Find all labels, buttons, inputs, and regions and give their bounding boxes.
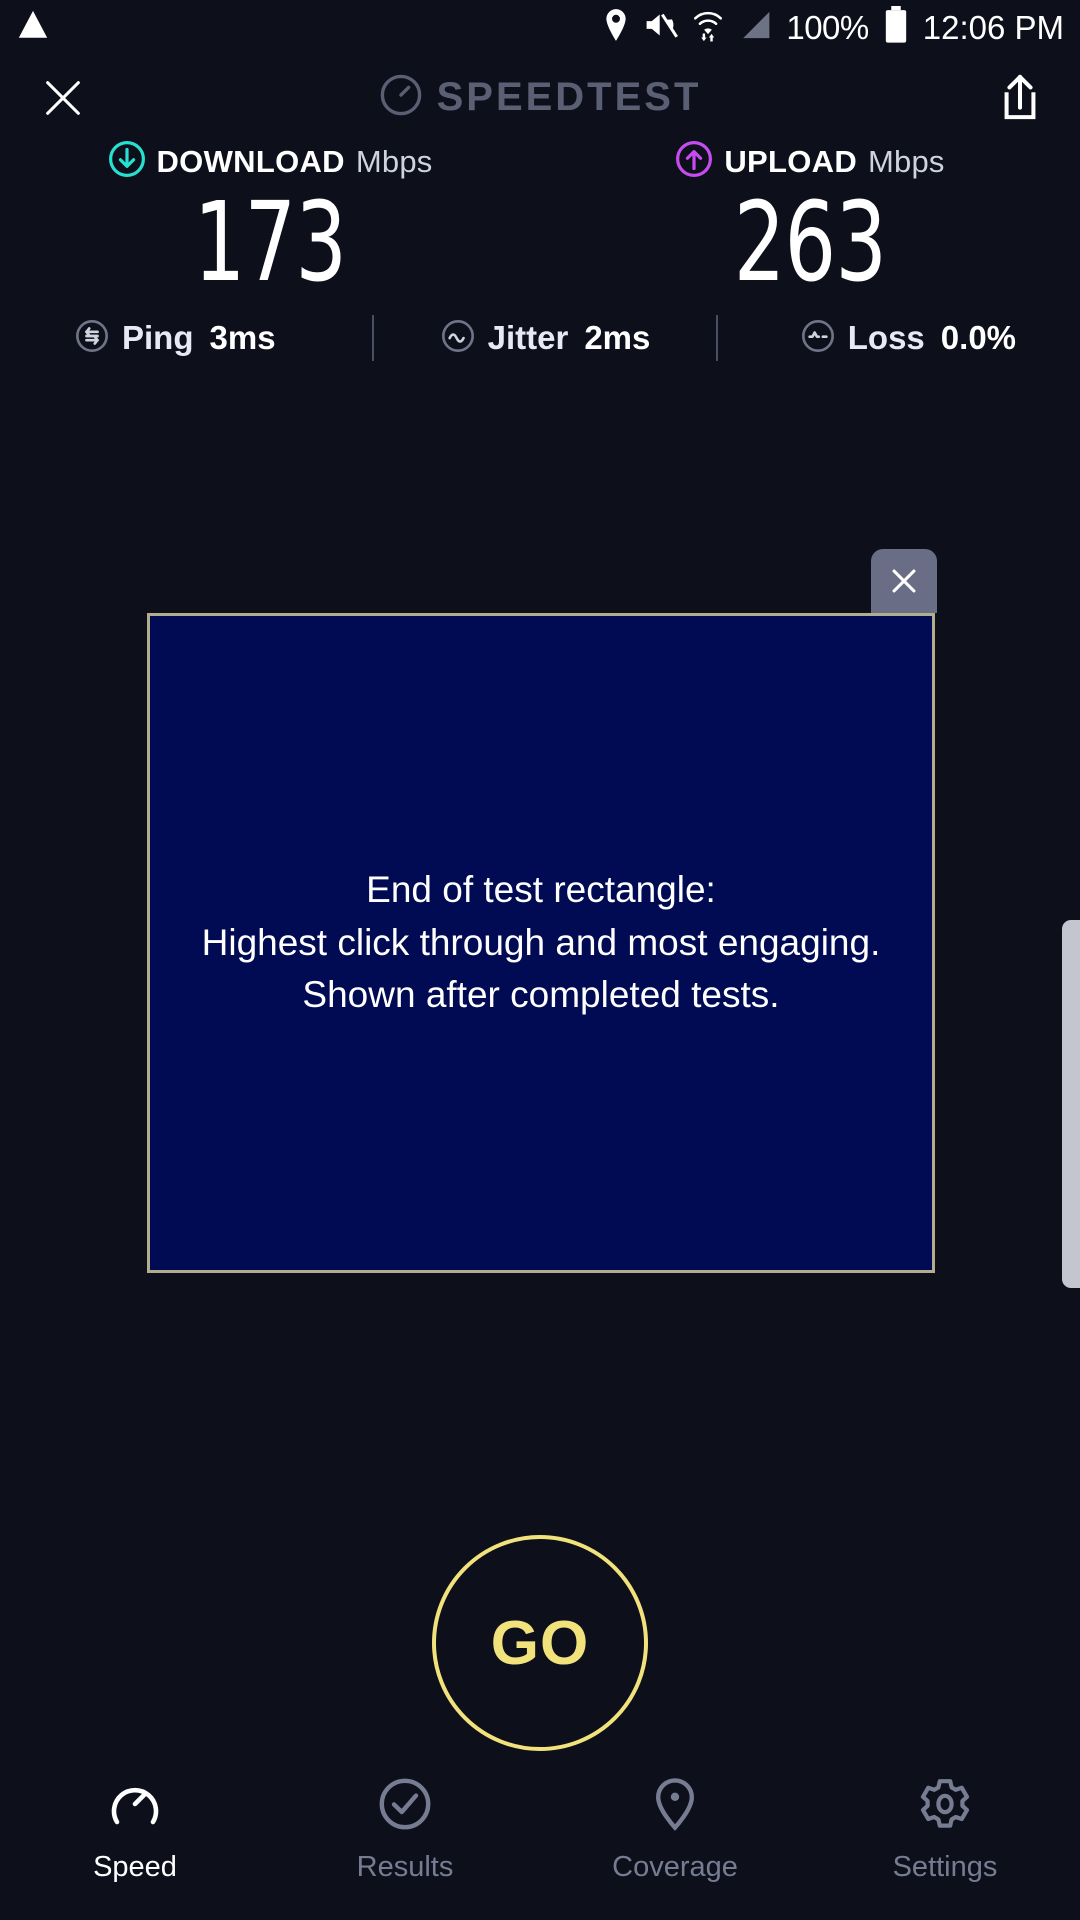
jitter-value-label: 2ms	[584, 319, 650, 357]
nav-label-coverage: Coverage	[612, 1851, 738, 1884]
gear-icon	[917, 1776, 973, 1837]
close-button[interactable]	[36, 71, 90, 125]
check-circle-icon	[377, 1776, 433, 1837]
nav-item-coverage[interactable]: Coverage	[540, 1776, 810, 1884]
nav-item-settings[interactable]: Settings	[810, 1776, 1080, 1884]
ad-line-1: End of test rectangle:	[202, 864, 881, 917]
jitter-icon	[440, 318, 476, 359]
download-value: 173	[194, 187, 346, 297]
bottom-navigation: Speed Results Coverage	[0, 1770, 1080, 1920]
loss-metric: Loss 0.0%	[800, 318, 1016, 359]
status-bar-left-icons	[16, 8, 50, 47]
loss-slot: Loss 0.0%	[738, 318, 1034, 359]
ad-line-3: Shown after completed tests.	[202, 969, 881, 1022]
nav-label-speed: Speed	[93, 1851, 177, 1884]
location-pin-icon	[602, 8, 630, 47]
jitter-metric: Jitter 2ms	[440, 318, 651, 359]
battery-percent-label: 100%	[786, 9, 868, 47]
go-button-label: GO	[491, 1608, 589, 1679]
ad-close-button[interactable]	[871, 549, 937, 613]
status-bar: 100% 12:06 PM	[0, 0, 1080, 55]
ping-value-label: 3ms	[210, 319, 276, 357]
mute-icon	[644, 9, 678, 46]
loss-icon	[800, 318, 836, 359]
go-button[interactable]: GO	[432, 1535, 648, 1751]
download-arrow-icon	[108, 140, 146, 183]
brand-name-label: SPEEDTEST	[437, 75, 702, 120]
ping-name-label: Ping	[122, 319, 194, 357]
ad-text-block: End of test rectangle: Highest click thr…	[190, 864, 893, 1022]
divider-2	[697, 315, 738, 361]
download-upload-row: DOWNLOAD Mbps 173 UPLOAD Mbps 263	[0, 140, 1080, 297]
results-panel: DOWNLOAD Mbps 173 UPLOAD Mbps 263	[0, 140, 1080, 361]
nav-label-settings: Settings	[893, 1851, 998, 1884]
loss-name-label: Loss	[848, 319, 925, 357]
brand-logo: SPEEDTEST	[379, 73, 702, 122]
nav-item-results[interactable]: Results	[270, 1776, 540, 1884]
upload-arrow-icon	[675, 140, 713, 183]
download-metric: DOWNLOAD Mbps 173	[0, 140, 540, 297]
ping-metric: Ping 3ms	[74, 318, 276, 359]
upload-unit-label: Mbps	[868, 144, 945, 180]
app-header: SPEEDTEST	[0, 55, 1080, 140]
jitter-name-label: Jitter	[488, 319, 569, 357]
ping-icon	[74, 318, 110, 359]
battery-icon	[883, 6, 909, 49]
speedometer-logo-icon	[379, 73, 423, 122]
nav-item-speed[interactable]: Speed	[0, 1776, 270, 1884]
speedometer-icon	[107, 1776, 163, 1837]
upload-label-row: UPLOAD Mbps	[675, 140, 944, 183]
ping-jitter-loss-row: Ping 3ms Jitter 2ms	[0, 315, 1080, 361]
advertisement-container: End of test rectangle: Highest click thr…	[147, 613, 935, 1273]
advertisement-banner[interactable]: End of test rectangle: Highest click thr…	[147, 613, 935, 1273]
share-button[interactable]	[992, 70, 1048, 126]
nav-label-results: Results	[357, 1851, 454, 1884]
status-bar-right-icons: 100% 12:06 PM	[602, 6, 1064, 49]
page-scrollbar[interactable]	[1062, 920, 1080, 1288]
speedtest-app-screen: 100% 12:06 PM SPEEDTEST	[0, 0, 1080, 1920]
wifi-icon	[692, 8, 724, 47]
cell-signal-icon	[738, 10, 772, 45]
divider-1	[352, 315, 393, 361]
map-pin-icon	[647, 1776, 703, 1837]
loss-value-label: 0.0%	[941, 319, 1016, 357]
clock-label: 12:06 PM	[923, 9, 1064, 47]
ping-slot: Ping 3ms	[46, 318, 352, 359]
warning-triangle-icon	[16, 8, 50, 47]
upload-metric: UPLOAD Mbps 263	[540, 140, 1080, 297]
download-unit-label: Mbps	[356, 144, 433, 180]
ad-line-2: Highest click through and most engaging.	[202, 917, 881, 970]
upload-value: 263	[734, 187, 886, 297]
upload-name-label: UPLOAD	[724, 144, 857, 180]
download-name-label: DOWNLOAD	[157, 144, 345, 180]
download-label-row: DOWNLOAD Mbps	[108, 140, 433, 183]
jitter-slot: Jitter 2ms	[393, 318, 697, 359]
